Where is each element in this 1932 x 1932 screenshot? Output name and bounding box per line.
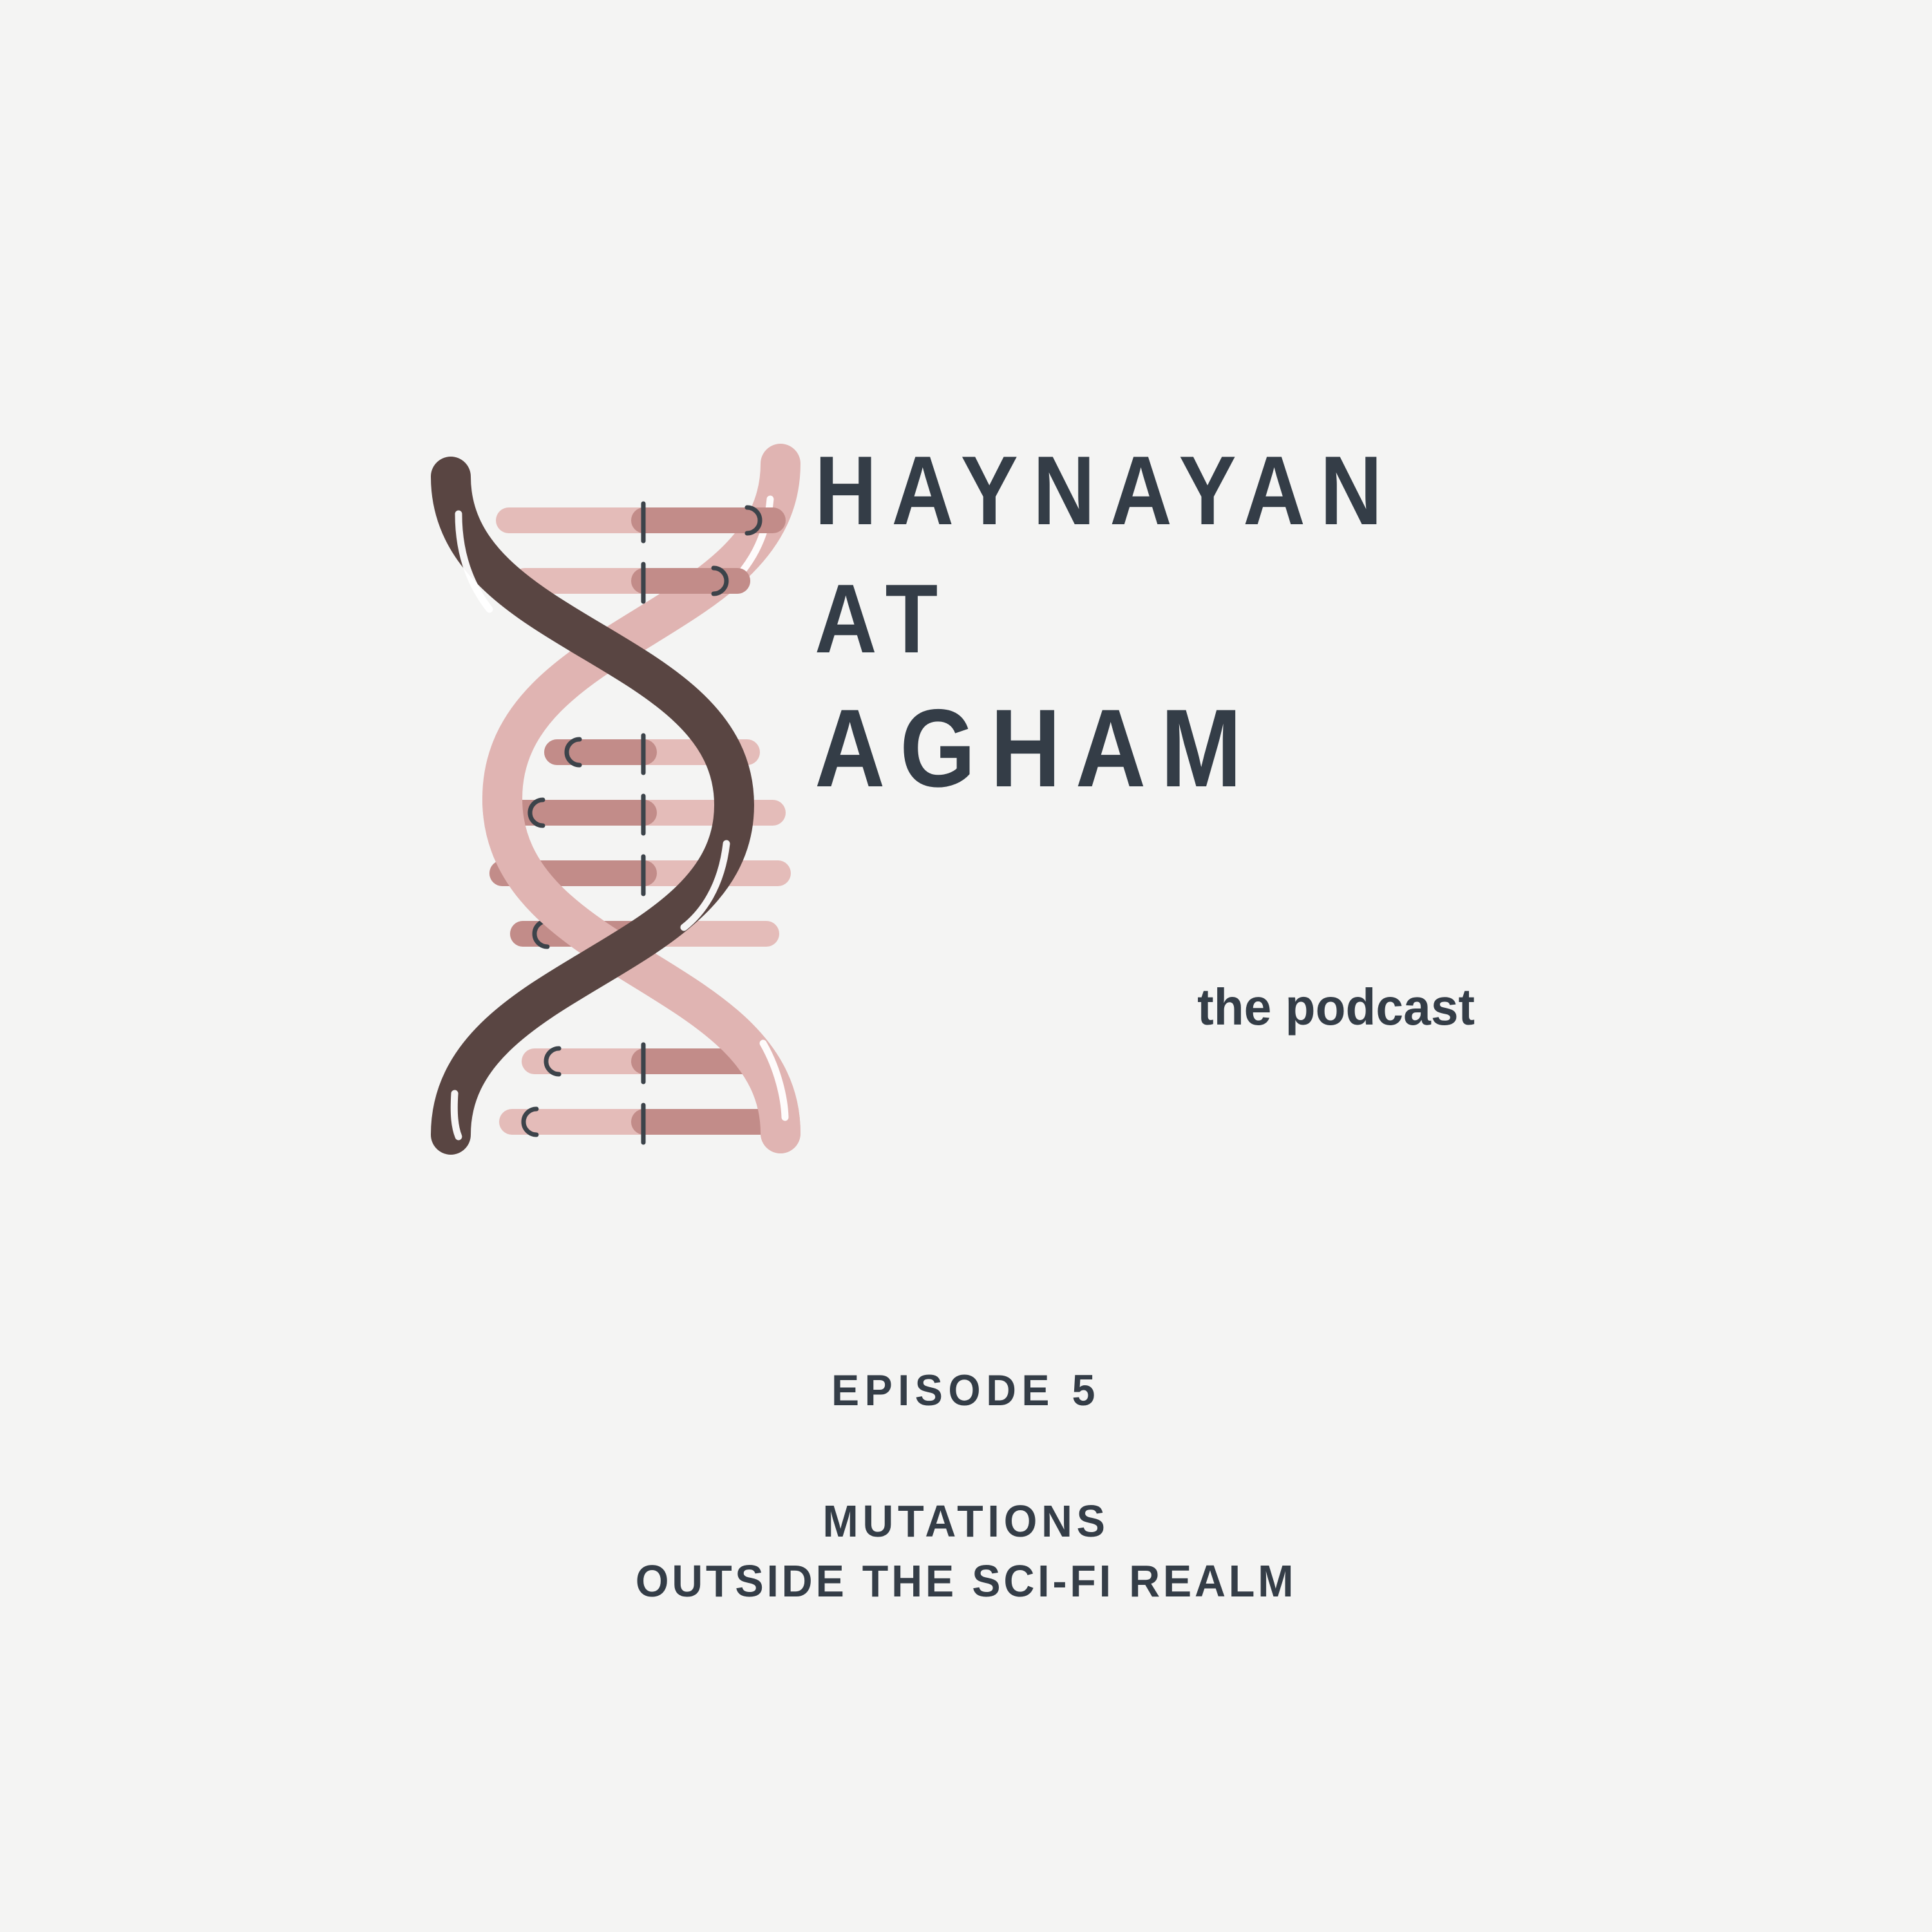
wordmark-line-haynayan: HAYNAYAN bbox=[815, 441, 1438, 541]
logo-lockup: HAYNAYAN AT AGHAM the podcast bbox=[386, 322, 1546, 1288]
episode-info: EPISODE 5 MUTATIONS OUTSIDE THE SCI-FI R… bbox=[0, 1365, 1932, 1611]
episode-number: EPISODE 5 bbox=[48, 1365, 1884, 1416]
dna-base-pair bbox=[512, 1105, 789, 1142]
episode-title: MUTATIONS OUTSIDE THE SCI-FI REALM bbox=[48, 1492, 1884, 1611]
episode-title-line-1: MUTATIONS bbox=[48, 1492, 1884, 1551]
wordmark-line-at: AT bbox=[815, 569, 1438, 669]
episode-title-line-2: OUTSIDE THE SCI-FI REALM bbox=[48, 1551, 1884, 1611]
brand-wordmark: HAYNAYAN AT AGHAM bbox=[815, 441, 1523, 806]
dna-double-helix-illustration bbox=[386, 354, 837, 1256]
wordmark-line-agham: AGHAM bbox=[815, 692, 1438, 805]
podcast-cover-art: HAYNAYAN AT AGHAM the podcast EPISODE 5 … bbox=[0, 0, 1932, 1932]
brand-tagline: the podcast bbox=[843, 978, 1523, 1037]
